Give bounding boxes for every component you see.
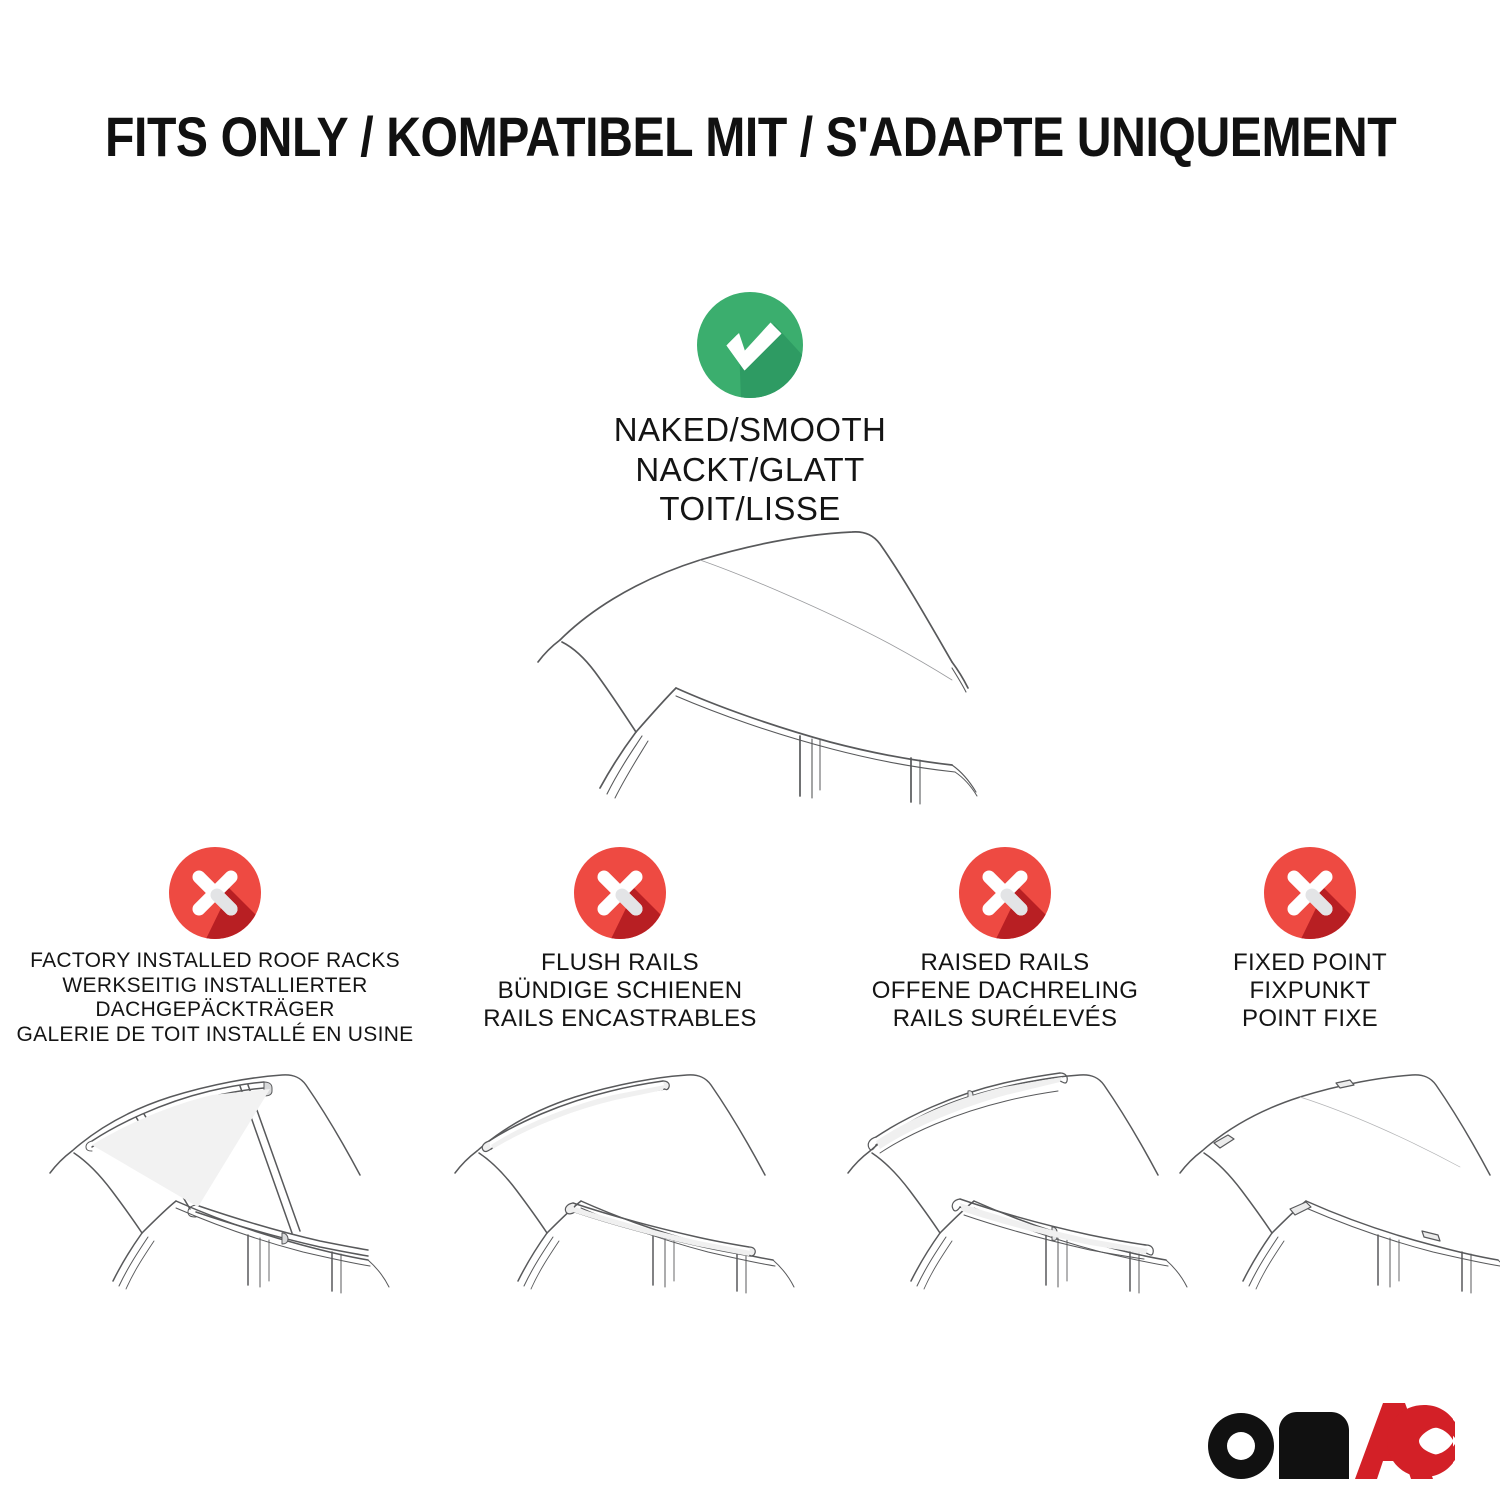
rejected-item-flush-rails: FLUSH RAILS BÜNDIGE SCHIENEN RAILS ENCAS… [420, 845, 820, 1033]
x-circle-icon [1262, 845, 1358, 941]
rejected-labels: FIXED POINT FIXPUNKT POINT FIXE [1110, 949, 1500, 1033]
x-circle-icon [167, 845, 263, 941]
rejected-item-fixed-point: FIXED POINT FIXPUNKT POINT FIXE [1110, 845, 1500, 1033]
roof-type-illustrations [0, 1055, 1500, 1315]
rejected-label-fr: GALERIE DE TOIT INSTALLÉ EN USINE [15, 1023, 415, 1048]
fixed-point-diagram [1150, 1055, 1500, 1305]
rejected-label-de-line1: WERKSEITIG INSTALLIERTER [15, 974, 415, 999]
approved-section: NAKED/SMOOTH NACKT/GLATT TOIT/LISSE [0, 290, 1500, 529]
rejected-section: FACTORY INSTALLED ROOF RACKS WERKSEITIG … [0, 845, 1500, 1065]
approved-label-en: NAKED/SMOOTH [0, 410, 1500, 450]
approved-labels: NAKED/SMOOTH NACKT/GLATT TOIT/LISSE [0, 410, 1500, 529]
factory-roof-rack-diagram [20, 1055, 420, 1305]
rejected-label-de: BÜNDIGE SCHIENEN [420, 977, 820, 1005]
x-circle-icon [957, 845, 1053, 941]
x-circle-icon [572, 845, 668, 941]
rejected-labels: FACTORY INSTALLED ROOF RACKS WERKSEITIG … [15, 949, 415, 1047]
rejected-label-de-line2: DACHGEPÄCKTRÄGER [15, 998, 415, 1023]
flush-rails-diagram [425, 1055, 825, 1305]
approved-label-de: NACKT/GLATT [0, 450, 1500, 490]
page-title: FITS ONLY / KOMPATIBEL MIT / S'ADAPTE UN… [105, 104, 1395, 169]
check-circle-icon [695, 290, 805, 400]
rejected-label-en: FIXED POINT [1110, 949, 1500, 977]
rejected-label-de: FIXPUNKT [1110, 977, 1500, 1005]
rejected-label-en: FLUSH RAILS [420, 949, 820, 977]
rejected-item-factory-installed-roof-racks: FACTORY INSTALLED ROOF RACKS WERKSEITIG … [15, 845, 415, 1047]
rejected-labels: FLUSH RAILS BÜNDIGE SCHIENEN RAILS ENCAS… [420, 949, 820, 1033]
rejected-label-fr: RAILS ENCASTRABLES [420, 1005, 820, 1033]
rejected-label-en: FACTORY INSTALLED ROOF RACKS [15, 949, 415, 974]
rejected-label-fr: POINT FIXE [1110, 1005, 1500, 1033]
naked-smooth-roof-diagram [500, 520, 1020, 820]
omac-logo [1205, 1398, 1455, 1484]
